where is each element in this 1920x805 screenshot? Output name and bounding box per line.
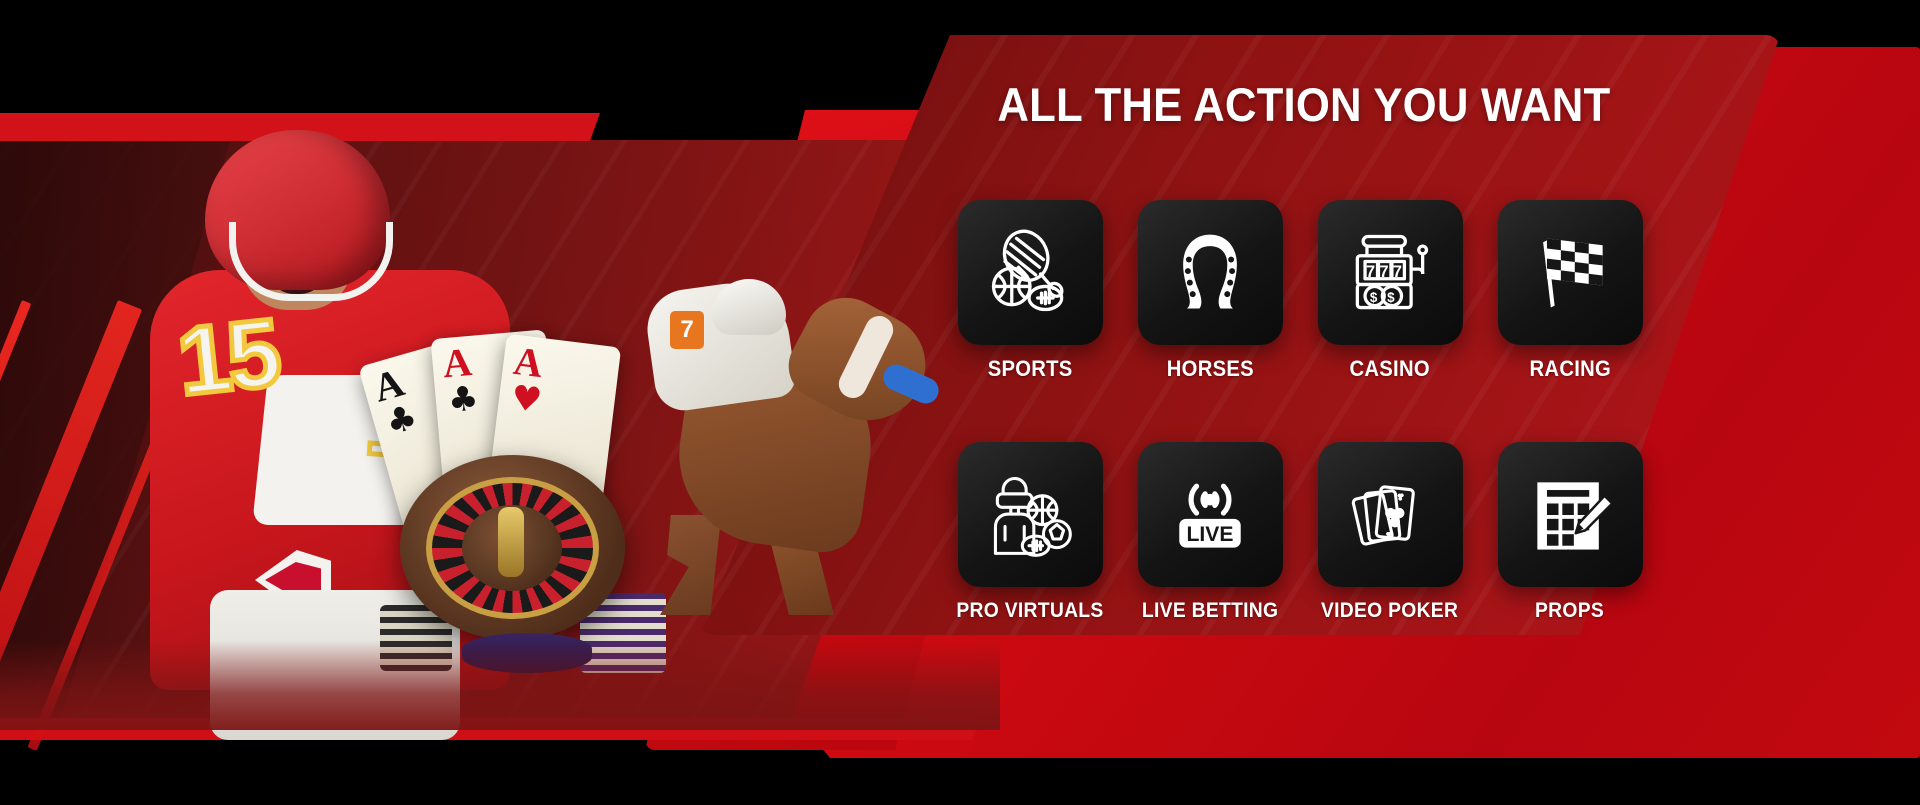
category-tile-sports[interactable]: SPORTS bbox=[940, 200, 1120, 380]
category-tile-video-poker[interactable]: VIDEO POKER bbox=[1300, 442, 1480, 621]
card-suit: ♣ bbox=[447, 381, 480, 418]
card-suit: ♥ bbox=[509, 381, 543, 418]
pro-virtuals-tile-icon-box[interactable] bbox=[958, 442, 1103, 587]
horseshoe-icon bbox=[1162, 225, 1258, 321]
category-row-2: PRO VIRTUALS LIVE bbox=[940, 442, 1660, 621]
roulette-wheel-image bbox=[400, 455, 625, 655]
jersey-number: 15 bbox=[173, 305, 281, 411]
props-tile-icon-box[interactable] bbox=[1498, 442, 1643, 587]
svg-text:$: $ bbox=[1387, 289, 1395, 304]
horses-tile-icon-box[interactable] bbox=[1138, 200, 1283, 345]
racehorse-image: 7 bbox=[620, 285, 950, 615]
category-label: SPORTS bbox=[988, 358, 1073, 380]
category-label: LIVE BETTING bbox=[1142, 600, 1278, 621]
checklist-pencil-icon bbox=[1522, 467, 1618, 563]
category-label: CASINO bbox=[1350, 358, 1430, 380]
category-tile-horses[interactable]: HORSES bbox=[1120, 200, 1300, 380]
playing-cards-icon bbox=[1342, 467, 1438, 563]
checkered-flag-icon bbox=[1522, 225, 1618, 321]
svg-text:$: $ bbox=[1370, 289, 1378, 304]
category-label: PRO VIRTUALS bbox=[956, 600, 1103, 621]
category-tile-props[interactable]: PROPS bbox=[1480, 442, 1660, 621]
svg-text:7: 7 bbox=[1366, 262, 1375, 280]
image-fade-overlay bbox=[0, 640, 1000, 730]
card-rank: A bbox=[441, 342, 473, 384]
jockey-number: 7 bbox=[670, 311, 704, 349]
category-tile-casino[interactable]: 777 $$ CASINO bbox=[1300, 200, 1480, 380]
category-tile-live-betting[interactable]: LIVE LIVE BETTING bbox=[1120, 442, 1300, 621]
category-grid: SPORTS HORSES bbox=[940, 200, 1660, 621]
sports-balls-racket-icon bbox=[982, 225, 1078, 321]
page-title: ALL THE ACTION YOU WANT bbox=[997, 80, 1592, 129]
category-tile-pro-virtuals[interactable]: PRO VIRTUALS bbox=[940, 442, 1120, 621]
racing-tile-icon-box[interactable] bbox=[1498, 200, 1643, 345]
category-label: HORSES bbox=[1166, 358, 1253, 380]
sports-tile-icon-box[interactable] bbox=[958, 200, 1103, 345]
category-tile-racing[interactable]: RACING bbox=[1480, 200, 1660, 380]
card-suit: ♣ bbox=[382, 400, 421, 441]
live-broadcast-icon: LIVE bbox=[1162, 467, 1258, 563]
svg-text:7: 7 bbox=[1393, 262, 1402, 280]
slot-machine-777-icon: 777 $$ bbox=[1342, 225, 1438, 321]
svg-text:7: 7 bbox=[1379, 262, 1388, 280]
category-row-1: SPORTS HORSES bbox=[940, 200, 1660, 380]
video-poker-tile-icon-box[interactable] bbox=[1318, 442, 1463, 587]
live-betting-tile-icon-box[interactable]: LIVE bbox=[1138, 442, 1283, 587]
category-label: RACING bbox=[1529, 358, 1610, 380]
vr-player-balls-icon bbox=[982, 467, 1078, 563]
promo-banner: 15 15 A ♣ A ♣ A ♥ 7 AL bbox=[0, 0, 1920, 805]
svg-text:LIVE: LIVE bbox=[1187, 522, 1234, 545]
category-label: PROPS bbox=[1535, 600, 1604, 621]
category-label: VIDEO POKER bbox=[1321, 600, 1458, 621]
casino-tile-icon-box[interactable]: 777 $$ bbox=[1318, 200, 1463, 345]
